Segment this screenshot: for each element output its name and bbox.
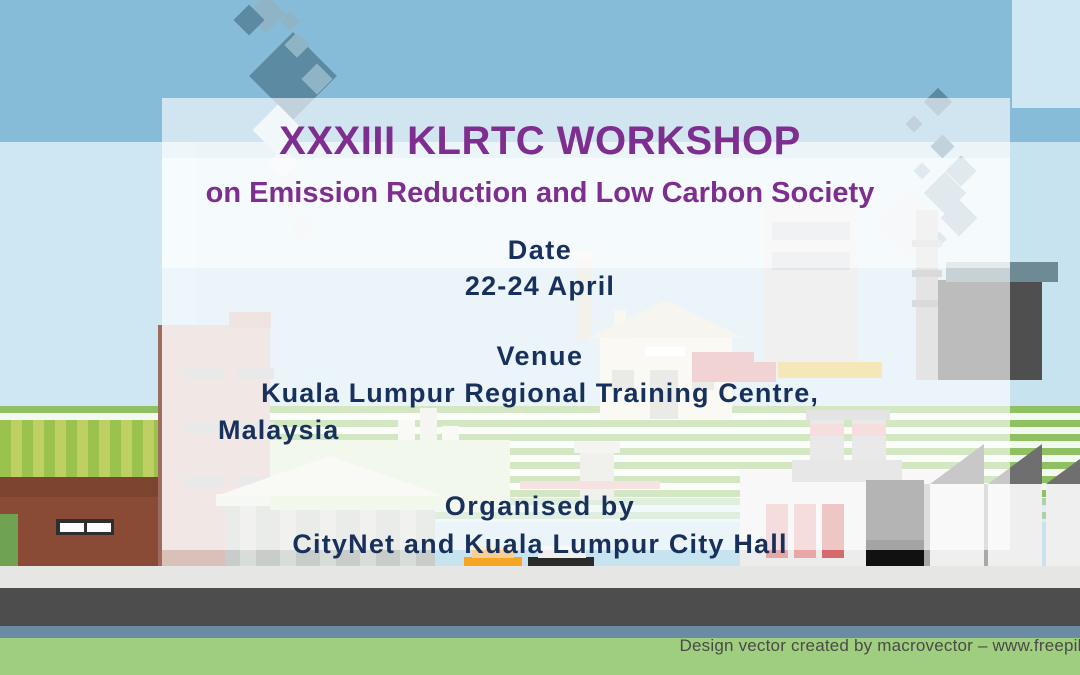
- poster-text-content: XXXIII KLRTC WORKSHOP on Emission Reduct…: [0, 0, 1080, 675]
- organiser-label: Organised by: [0, 487, 1080, 525]
- page-subtitle: on Emission Reduction and Low Carbon Soc…: [0, 174, 1080, 212]
- date-label: Date: [0, 232, 1080, 268]
- page-title: XXXIII KLRTC WORKSHOP: [0, 118, 1080, 164]
- organiser-block: Organised by CityNet and Kuala Lumpur Ci…: [0, 487, 1080, 563]
- credit-text: Design vector created by macrovector – w…: [680, 636, 1080, 656]
- credit-line: Design vector created by macrovector – w…: [0, 636, 1080, 656]
- venue-value-line2: Malaysia: [0, 412, 1080, 448]
- venue-label: Venue: [0, 338, 1080, 374]
- date-value: 22-24 April: [0, 268, 1080, 304]
- venue-value-line1: Kuala Lumpur Regional Training Centre,: [0, 374, 1080, 412]
- poster-canvas: XXXIII KLRTC WORKSHOP on Emission Reduct…: [0, 0, 1080, 675]
- organiser-value: CityNet and Kuala Lumpur City Hall: [0, 525, 1080, 563]
- venue-block: Venue Kuala Lumpur Regional Training Cen…: [0, 338, 1080, 448]
